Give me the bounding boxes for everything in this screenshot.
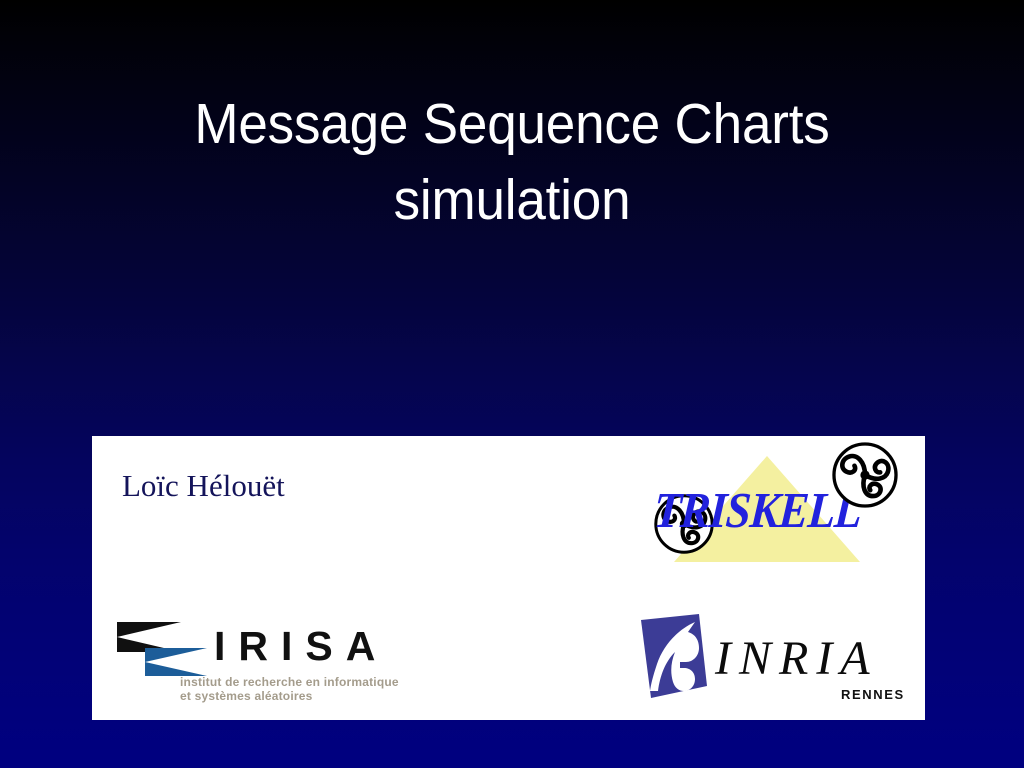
inria-logo: INRIA RENNES [637,614,922,714]
inria-sublabel: RENNES [841,688,905,702]
inria-wordmark: INRIA [715,634,878,684]
irisa-wordmark: IRISA [214,624,388,668]
irisa-tagline-line-2: et systèmes aléatoires [180,690,399,704]
triskell-logo: TRISKELL [654,442,916,572]
irisa-pennant-blue-icon [145,648,207,676]
inria-bird-shield-icon [637,614,709,698]
triskelion-icon [832,442,898,508]
content-panel: Loïc Hélouët TRISKELL [92,436,925,720]
title-line-2: simulation [36,162,988,238]
author-name: Loïc Hélouët [122,469,285,503]
slide-title: Message Sequence Charts simulation [0,86,1024,238]
irisa-logo: IRISA institut de recherche en informati… [112,618,482,713]
irisa-tagline-line-1: institut de recherche en informatique [180,676,399,690]
irisa-tagline: institut de recherche en informatique et… [180,676,399,703]
presentation-slide: Message Sequence Charts simulation Loïc … [0,0,1024,768]
title-line-1: Message Sequence Charts [36,86,988,162]
